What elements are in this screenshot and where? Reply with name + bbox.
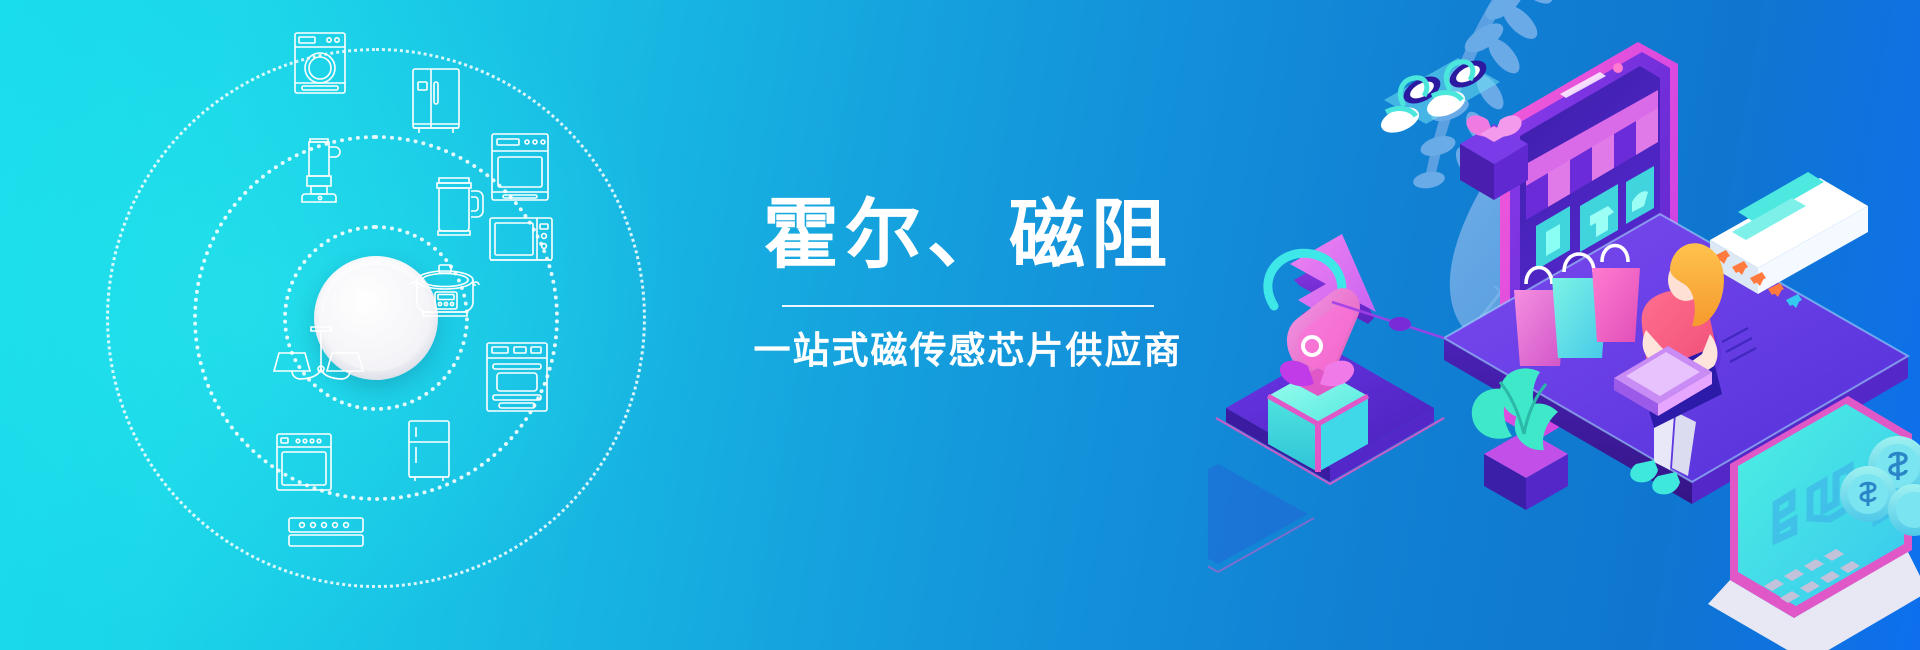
banner-copy: 霍尔、磁阻 一站式磁传感芯片供应商 [748,196,1188,371]
smart-home-appliance-orbit [96,0,656,650]
isometric-ecommerce-illustration [1208,0,1920,650]
banner-headline: 霍尔、磁阻 [748,196,1188,277]
banner-subheadline: 一站式磁传感芯片供应商 [748,331,1188,372]
chandelier-icon [275,325,367,391]
upright-fridge-icon [406,418,452,482]
headline-divider [782,305,1154,307]
corner-pad [1208,464,1314,572]
dishwasher-icon [274,431,334,493]
stove-oven-icon [489,131,551,205]
microwave-oven-icon [487,215,555,265]
blender-icon [296,131,344,207]
refrigerator-icon [410,66,462,136]
hero-banner: 霍尔、磁阻 一站式磁传感芯片供应商 [0,0,1920,650]
electric-kettle-icon [429,169,491,241]
range-oven-icon [484,340,550,414]
cooktop-icon [286,515,366,549]
rice-cooker-icon [409,263,481,329]
washing-machine-icon [292,30,348,96]
